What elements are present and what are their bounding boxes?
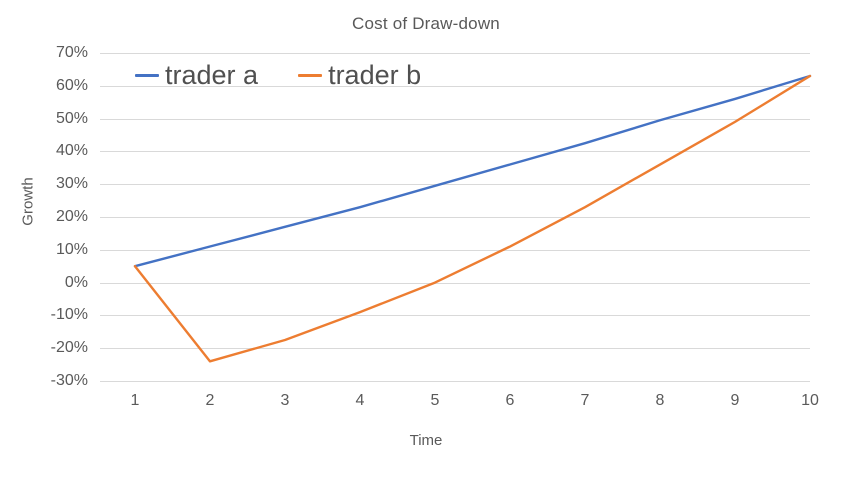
chart-container: Cost of Draw-down 70% 60% 50% 40% 30% 20… [0,0,852,485]
series-line-trader-b[interactable] [135,76,810,361]
series-layer [0,0,852,485]
series-line-trader-a[interactable] [135,76,810,266]
